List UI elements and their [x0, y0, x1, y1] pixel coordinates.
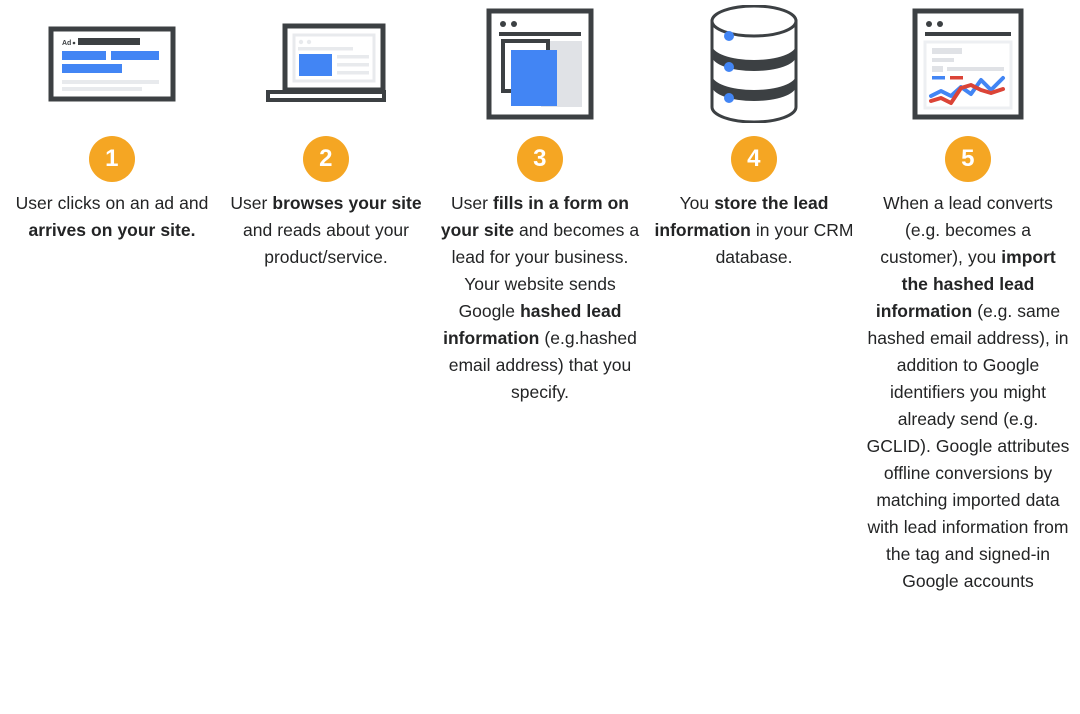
step-1: Ad 1 User clicks on an ad and arrives on… [8, 0, 216, 244]
step-2-icon-zone [222, 0, 430, 128]
step-2: 2 User browses your site and reads about… [222, 0, 430, 271]
step-4-icon-zone [650, 0, 858, 128]
caption-text-plain: User clicks on an ad and arrives on your… [16, 193, 209, 240]
svg-text:Ad: Ad [62, 40, 71, 47]
caption-emphasis: browses your site [272, 193, 421, 213]
analytics-chart-window-icon [912, 8, 1024, 120]
step-number-badge: 1 [89, 136, 135, 182]
step-1-caption: User clicks on an ad and arrives on your… [8, 190, 216, 244]
step-2-badge-zone: 2 [303, 128, 349, 190]
step-number-badge: 2 [303, 136, 349, 182]
caption-text-plain: User fills in a form on your site and be… [441, 193, 639, 402]
caption-text-plain: You store the lead information in your C… [655, 193, 854, 267]
lead-flow-diagram: Ad 1 User clicks on an ad and arrives on… [0, 0, 1080, 714]
step-1-icon-zone: Ad [8, 0, 216, 128]
caption-run: User clicks on an ad and [16, 193, 209, 213]
step-3-caption: User fills in a form on your site and be… [436, 190, 644, 406]
step-5-icon-zone [864, 0, 1072, 128]
caption-run: and reads about your product/service. [243, 220, 409, 267]
caption-text-plain: User browses your site and reads about y… [230, 193, 421, 267]
step-1-badge-zone: 1 [89, 128, 135, 190]
laptop-website-icon [264, 22, 388, 106]
step-3-badge-zone: 3 [517, 128, 563, 190]
step-4: 4 You store the lead information in your… [650, 0, 858, 271]
step-4-caption: You store the lead information in your C… [650, 190, 858, 271]
step-4-badge-zone: 4 [731, 128, 777, 190]
step-3: 3 User fills in a form on your site and … [436, 0, 644, 406]
caption-run: User [451, 193, 493, 213]
step-5-caption: When a lead converts (e.g. becomes a cus… [864, 190, 1072, 595]
caption-run: User [230, 193, 272, 213]
search-ad-result-icon: Ad [48, 26, 176, 102]
caption-emphasis: arrives on your site. [29, 220, 196, 240]
step-5: 5 When a lead converts (e.g. becomes a c… [864, 0, 1072, 595]
caption-run: (e.g. same hashed email address), in add… [867, 301, 1070, 591]
step-2-caption: User browses your site and reads about y… [222, 190, 430, 271]
browser-form-window-icon [486, 8, 594, 120]
step-5-badge-zone: 5 [945, 128, 991, 190]
caption-text-plain: When a lead converts (e.g. becomes a cus… [867, 193, 1070, 591]
step-number-badge: 4 [731, 136, 777, 182]
caption-run: You [680, 193, 715, 213]
step-3-icon-zone [436, 0, 644, 128]
database-icon [708, 5, 800, 123]
step-number-badge: 5 [945, 136, 991, 182]
step-number-badge: 3 [517, 136, 563, 182]
